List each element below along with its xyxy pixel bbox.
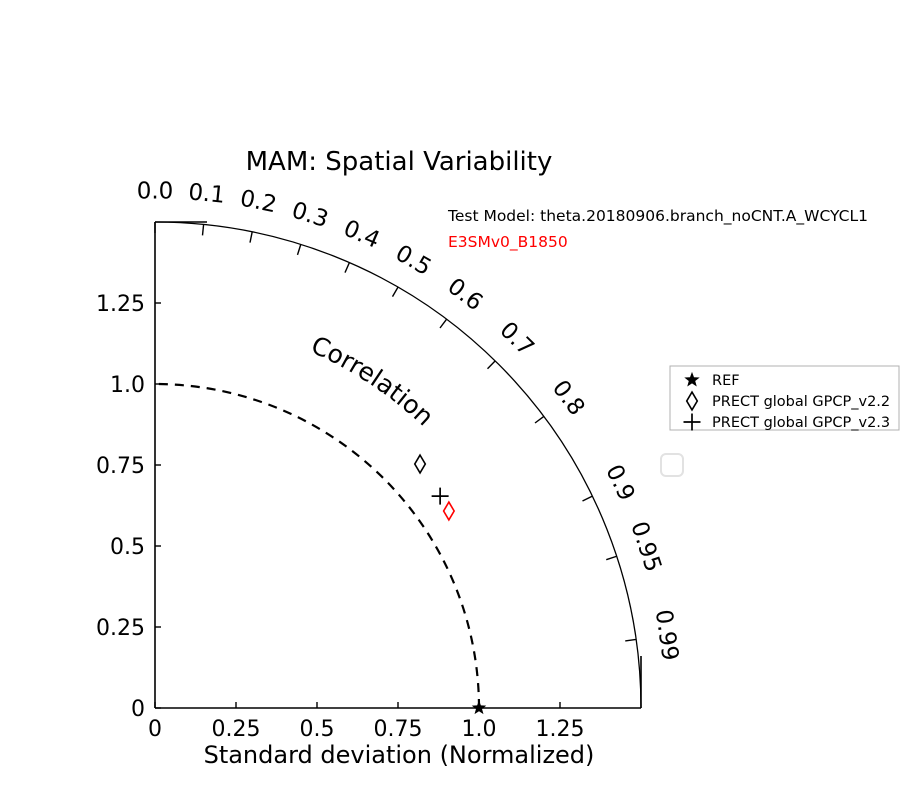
legend-label: REF: [712, 373, 740, 389]
x-tick-label: 0: [148, 717, 162, 742]
y-tick-label: 0.75: [96, 454, 145, 479]
taylor-diagram-canvas: MAM: Spatial Variability Test Model: the…: [0, 0, 900, 800]
legend-label: PRECT global GPCP_v2.3: [712, 415, 890, 431]
legend[interactable]: REFPRECT global GPCP_v2.2PRECT global GP…: [670, 366, 899, 431]
correlation-tick-label: 0.0: [137, 179, 174, 205]
y-tick-label: 0.5: [110, 535, 145, 560]
y-tick-label: 1.25: [96, 292, 145, 317]
taylor-diagram-figure: MAM: Spatial Variability Test Model: the…: [0, 0, 900, 800]
page-title: MAM: Spatial Variability: [246, 147, 553, 177]
x-axis-label: Standard deviation (Normalized): [204, 741, 595, 769]
y-tick-label: 0: [131, 697, 145, 722]
x-tick-label: 0.75: [374, 717, 423, 742]
x-tick-label: 0.5: [300, 717, 335, 742]
correlation-tick-label: 0.1: [187, 179, 226, 209]
y-tick-label: 1.0: [110, 373, 145, 398]
test-model-annotation: Test Model: theta.20180906.branch_noCNT.…: [447, 207, 868, 226]
x-tick-label: 0.25: [212, 717, 261, 742]
x-tick-label: 1.0: [462, 717, 497, 742]
reference-model-annotation: E3SMv0_B1850: [448, 233, 568, 252]
x-tick-label: 1.25: [536, 717, 585, 742]
legend-label: PRECT global GPCP_v2.2: [712, 394, 890, 410]
ghost-placeholder-box: [661, 454, 683, 476]
y-tick-label: 0.25: [96, 616, 145, 641]
